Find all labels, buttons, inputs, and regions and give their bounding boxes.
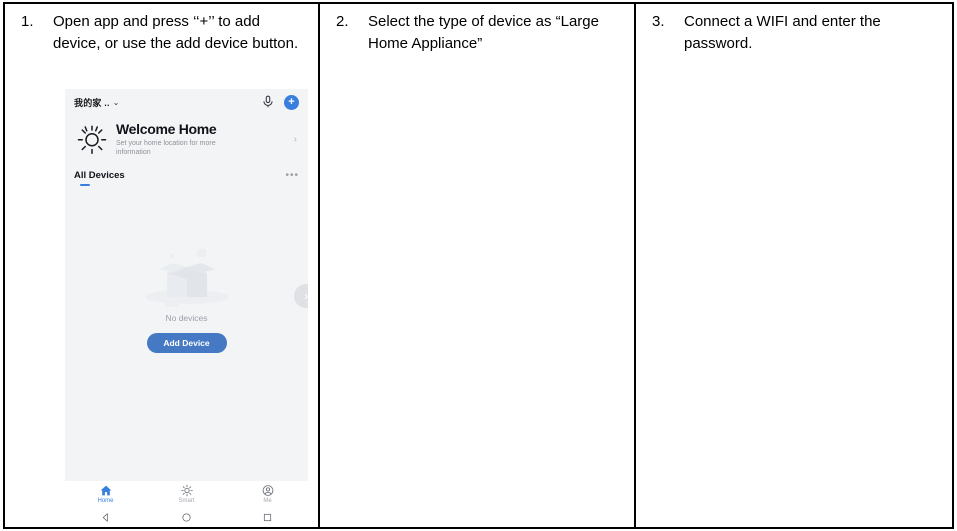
sun-icon — [74, 121, 110, 157]
app-topbar: 我的家 .. ⌄ + — [65, 89, 308, 115]
step-2-number: 2. — [328, 11, 368, 55]
empty-box-illustration — [139, 239, 235, 309]
tab-me[interactable]: Me — [227, 481, 308, 511]
android-nav-bar — [65, 511, 308, 527]
microphone-icon[interactable] — [261, 95, 275, 109]
chevron-right-icon[interactable]: › — [294, 134, 299, 145]
step-cell-3: 3. Connect a WIFI and enter the password… — [636, 4, 950, 527]
tab-smart-label: Smart — [146, 498, 227, 504]
welcome-home-card[interactable]: Welcome Home Set your home location for … — [65, 115, 308, 162]
android-back-icon[interactable] — [65, 510, 146, 527]
empty-state: No devices Add Device — [65, 239, 308, 353]
tab-strip: Home — [65, 481, 308, 511]
steps-table: 1. Open app and press ‘‘+’’ to add devic… — [3, 2, 954, 529]
step-cell-1: 1. Open app and press ‘‘+’’ to add devic… — [5, 4, 320, 527]
android-home-icon[interactable] — [146, 510, 227, 527]
welcome-text-group: Welcome Home Set your home location for … — [110, 121, 294, 158]
add-device-plus-button[interactable]: + — [284, 95, 299, 110]
tab-home[interactable]: Home — [65, 481, 146, 511]
home-name-label[interactable]: 我的家 .. — [74, 96, 110, 109]
account-icon — [227, 484, 308, 497]
home-icon — [65, 484, 146, 497]
bottom-tab-bar: Home — [65, 481, 308, 527]
step-cell-2: 2. Select the type of device as “Large H… — [320, 4, 636, 527]
instruction-sheet: 1. Open app and press ‘‘+’’ to add devic… — [0, 0, 957, 531]
step-1-text: Open app and press ‘‘+’’ to add device, … — [53, 11, 310, 55]
more-options-icon[interactable]: ••• — [285, 170, 299, 181]
tab-me-label: Me — [227, 498, 308, 504]
step-1-number: 1. — [13, 11, 53, 55]
chevron-down-icon[interactable]: ⌄ — [113, 98, 120, 107]
add-device-button[interactable]: Add Device — [147, 333, 227, 353]
no-devices-label: No devices — [65, 313, 308, 323]
tab-smart[interactable]: Smart — [146, 481, 227, 511]
tab-home-label: Home — [65, 498, 146, 504]
step-3-heading: 3. Connect a WIFI and enter the password… — [636, 4, 950, 55]
step-3-text: Connect a WIFI and enter the password. — [684, 11, 942, 55]
step-2-heading: 2. Select the type of device as “Large H… — [320, 4, 634, 55]
step-1-heading: 1. Open app and press ‘‘+’’ to add devic… — [5, 4, 318, 55]
step-3-number: 3. — [644, 11, 684, 55]
welcome-title: Welcome Home — [116, 121, 294, 137]
phone-screenshot-home: 我的家 .. ⌄ + — [65, 89, 308, 527]
android-recents-icon[interactable] — [227, 510, 308, 527]
tab-all-devices[interactable]: All Devices — [74, 170, 125, 181]
all-devices-row: All Devices ••• — [65, 162, 308, 181]
step-2-text: Select the type of device as “Large Home… — [368, 11, 626, 55]
sun-icon — [146, 484, 227, 497]
welcome-subtitle: Set your home location for more informat… — [116, 139, 246, 158]
